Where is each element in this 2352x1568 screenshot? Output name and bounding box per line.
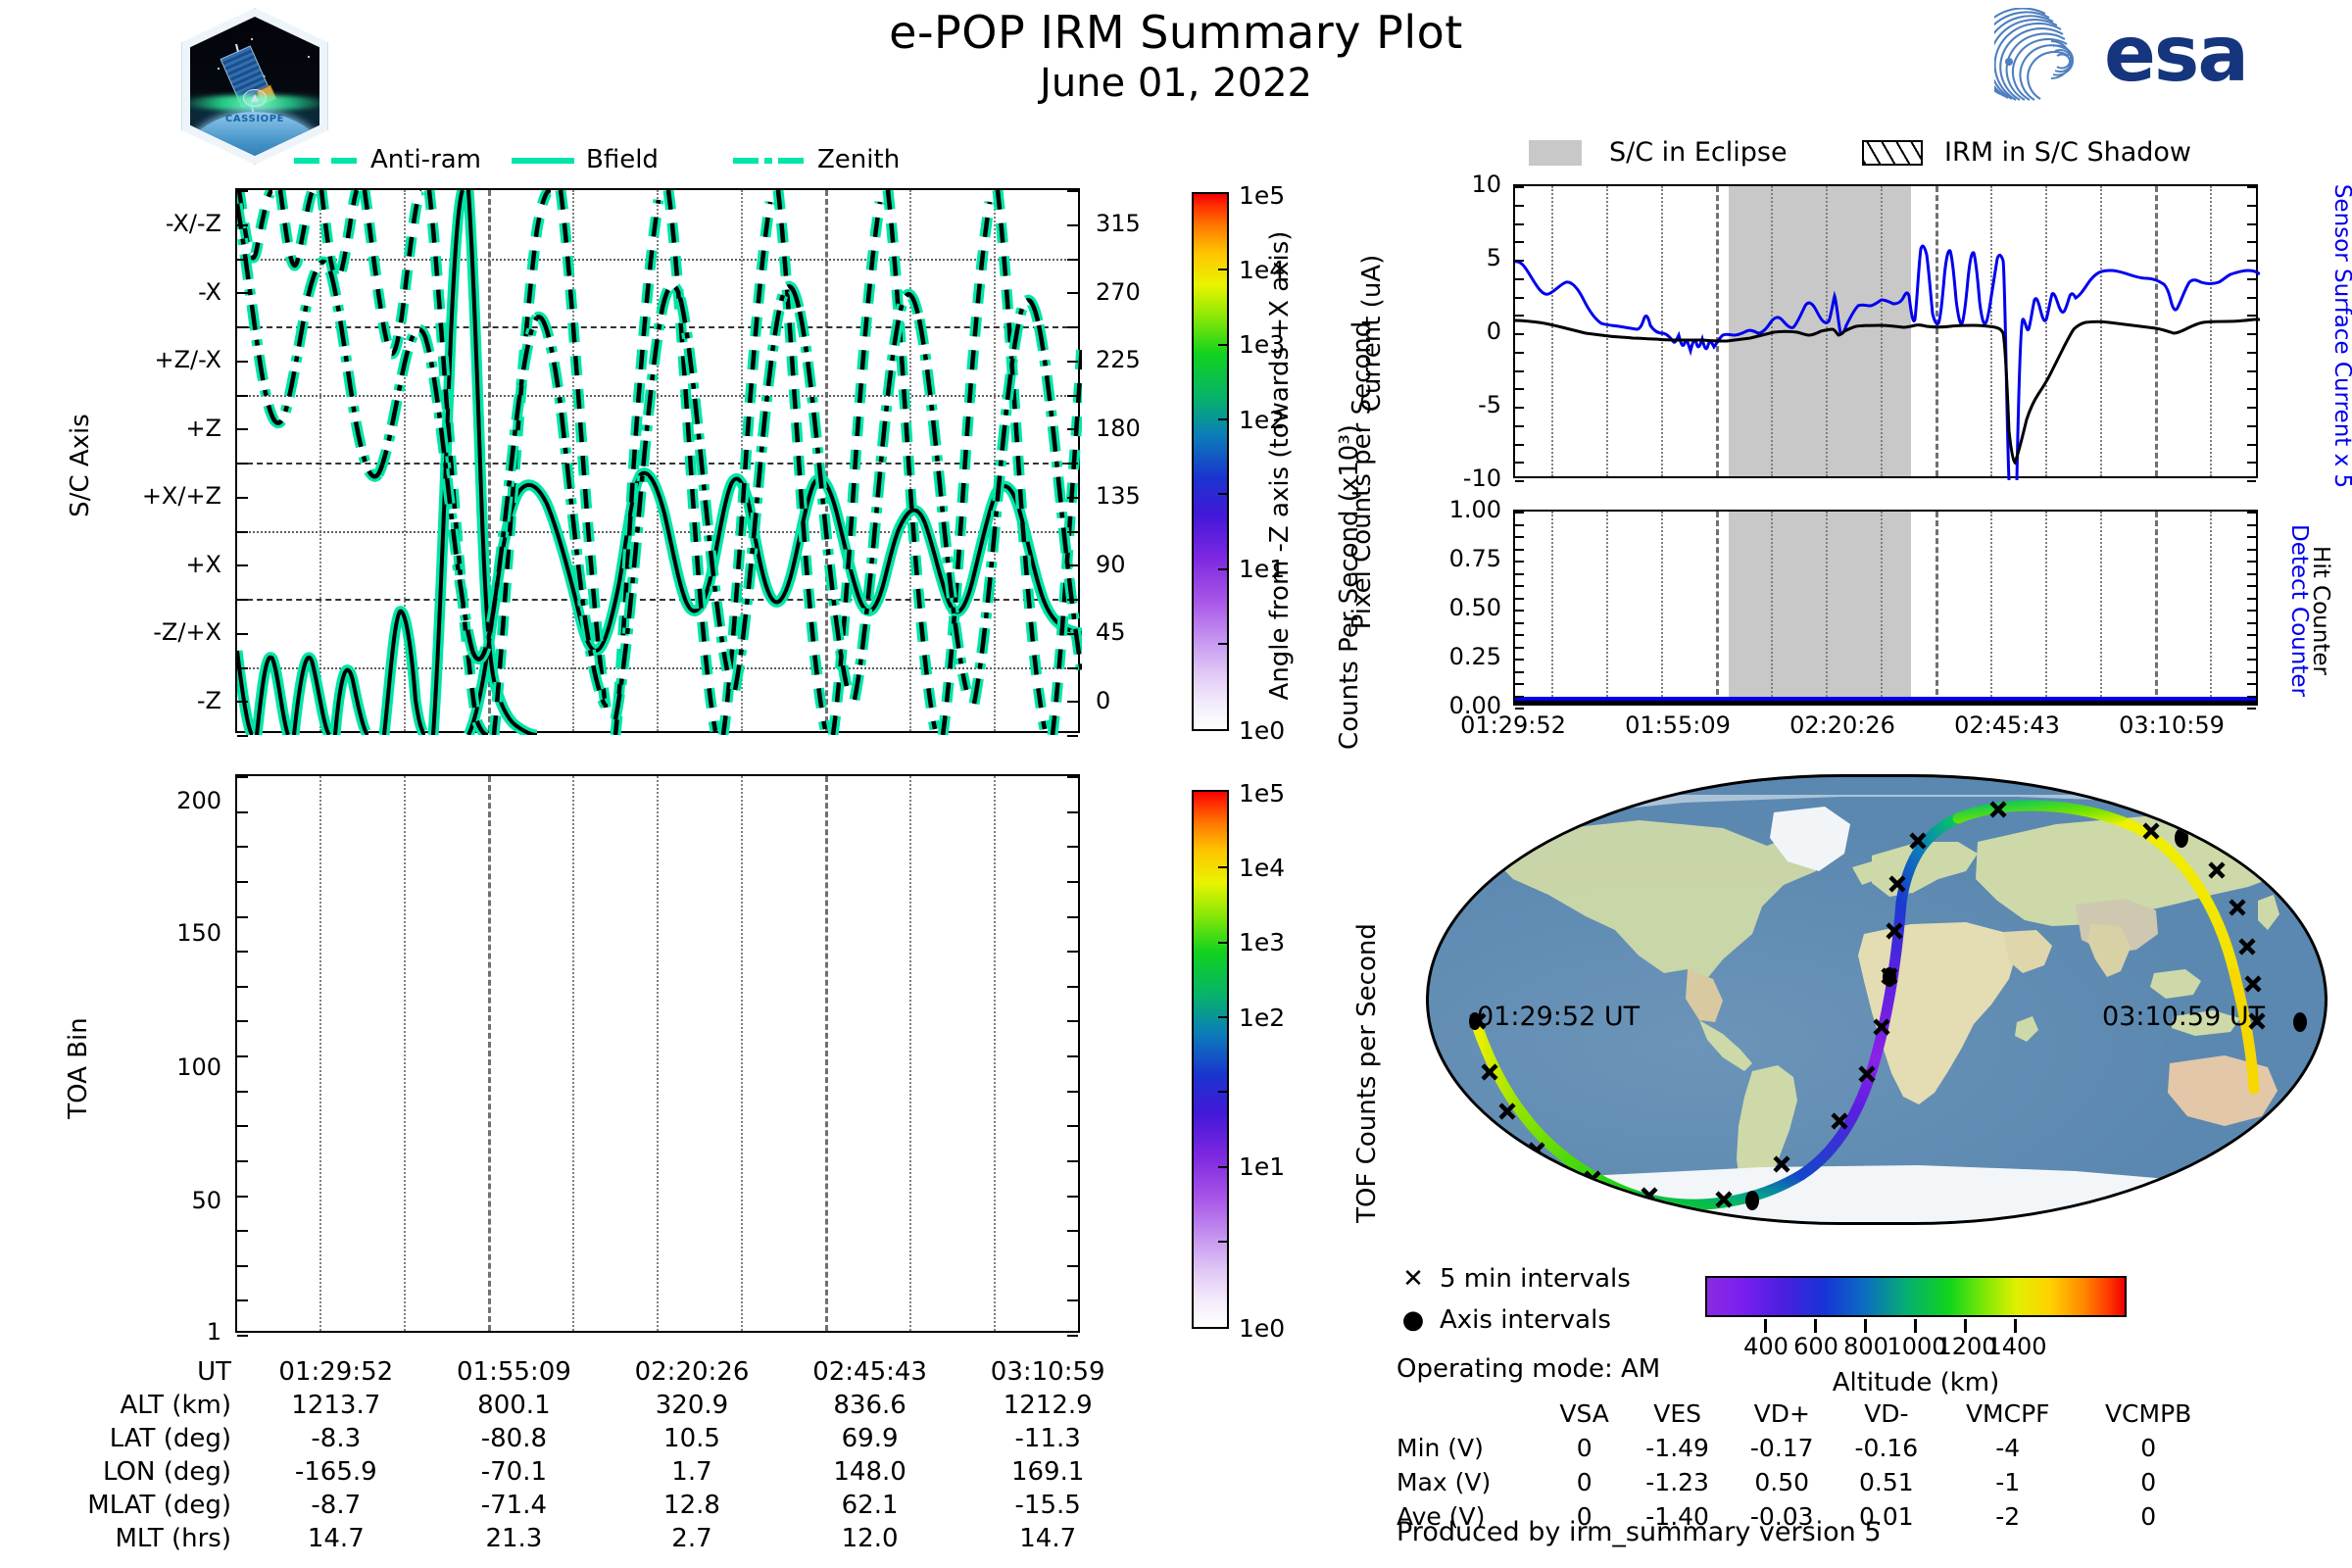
row-label-mlat: MLAT (deg) [59, 1489, 247, 1522]
counts-xtick-0: 01:29:52 [1435, 713, 1592, 737]
attitude-ytick--x--z: -X/-Z [59, 212, 221, 235]
counts-xtick-4: 03:10:59 [2093, 713, 2250, 737]
attitude-right-ytick-45: 45 [1096, 620, 1164, 644]
cell-min-vsa: 0 [1543, 1431, 1625, 1465]
current-ytick-0: 0 [1372, 319, 1501, 343]
cell-mlat-1: -71.4 [425, 1489, 604, 1522]
altitude-tick-1400: 1400 [1974, 1335, 2060, 1358]
cell-max-vcmpb: 0 [2077, 1465, 2220, 1499]
attitude-right-ytick-270: 270 [1096, 280, 1164, 304]
cell-lat-4: -11.3 [958, 1422, 1137, 1455]
toa-ytick-100: 100 [108, 1055, 221, 1079]
toa-ylabel: TOA Bin [64, 980, 93, 1156]
attitude-right-ytick-225: 225 [1096, 348, 1164, 371]
current-ytick-5: 5 [1372, 246, 1501, 269]
cell-lon-0: -165.9 [247, 1455, 425, 1489]
current-ytick-10: 10 [1372, 172, 1501, 196]
counts-trace-hit [1515, 701, 2256, 704]
attitude-ytick-px: +X [59, 553, 221, 576]
tof-cbar-tick-1e4: 1e4 [1239, 856, 1285, 880]
counts-ytick-0.50: 0.50 [1352, 596, 1501, 619]
attitude-right-ytick-180: 180 [1096, 416, 1164, 440]
attitude-right-ytick-90: 90 [1096, 553, 1164, 576]
cell-mlt-2: 2.7 [603, 1522, 781, 1555]
attitude-traces [237, 190, 1082, 735]
cell-alt-0: 1213.7 [247, 1389, 425, 1422]
ephemeris-table: UT 01:29:52 01:55:09 02:20:26 02:45:43 0… [59, 1355, 1137, 1555]
tof-cbar-tick-1e3: 1e3 [1239, 930, 1285, 955]
produced-by-footer: Produced by irm_summary version 5 [1396, 1517, 1882, 1547]
esa-wordmark: esa [2104, 10, 2247, 100]
ground-track-map: 01:29:52 UT 03:10:59 UT [1426, 774, 2352, 1235]
map-globe-shape [1426, 774, 2327, 1225]
cell-max-vdminus: 0.51 [1835, 1465, 1939, 1499]
current-ytick--10: -10 [1372, 466, 1501, 490]
cell-ave-vmcpf: -2 [1938, 1499, 2077, 1534]
cell-alt-4: 1212.9 [958, 1389, 1137, 1422]
cell-alt-1: 800.1 [425, 1389, 604, 1422]
table-row-mlat: MLAT (deg) -8.7 -71.4 12.8 62.1 -15.5 [59, 1489, 1137, 1522]
cell-lat-0: -8.3 [247, 1422, 425, 1455]
eclipse-shade-counts [1729, 512, 1911, 704]
pixel-counts-colorbar [1192, 192, 1229, 731]
counts-right-label-black: Hit Counter [2308, 464, 2333, 758]
cell-lon-2: 1.7 [603, 1455, 781, 1489]
altitude-colorbar-label: Altitude (km) [1705, 1368, 2127, 1397]
cell-max-vmcpf: -1 [1938, 1465, 2077, 1499]
legend-label-axis-intervals: Axis intervals [1440, 1305, 1611, 1335]
cell-lon-3: 148.0 [781, 1455, 959, 1489]
legend-label-5min: 5 min intervals [1440, 1264, 1631, 1294]
cell-lat-3: 69.9 [781, 1422, 959, 1455]
cell-mlat-4: -15.5 [958, 1489, 1137, 1522]
table-row-alt: ALT (km) 1213.7 800.1 320.9 836.6 1212.9 [59, 1389, 1137, 1422]
cell-alt-2: 320.9 [603, 1389, 781, 1422]
voltage-col-vmcpf: VMCPF [1938, 1396, 2077, 1431]
cell-lat-2: 10.5 [603, 1422, 781, 1455]
tof-cbar-tick-1e0: 1e0 [1239, 1316, 1285, 1341]
row-label-ut: UT [59, 1355, 247, 1389]
voltage-col-vcmpb: VCMPB [2077, 1396, 2220, 1431]
cell-mlat-3: 62.1 [781, 1489, 959, 1522]
cell-mlt-1: 21.3 [425, 1522, 604, 1555]
counts-ylabel: Counts Per Second (x10³) [1336, 495, 1365, 750]
cell-mlt-3: 12.0 [781, 1522, 959, 1555]
table-row-lon: LON (deg) -165.9 -70.1 1.7 148.0 169.1 [59, 1455, 1137, 1489]
toa-ytick-200: 200 [108, 789, 221, 812]
cassiope-mission-patch-icon: CASSIOPE [181, 8, 328, 165]
cell-lat-1: -80.8 [425, 1422, 604, 1455]
row-label-mlt: MLT (hrs) [59, 1522, 247, 1555]
esa-logo: esa [1994, 8, 2337, 102]
page-subtitle-date: June 01, 2022 [745, 61, 1607, 106]
attitude-ytick--z: -Z [59, 689, 221, 712]
legend-line-anti-ram [294, 158, 319, 164]
legend-line-bfield [512, 158, 574, 164]
legend-line-zenith-dot [764, 158, 772, 164]
pixel-cbar-tick-1e2: 1e2 [1239, 408, 1285, 432]
eclipse-shadow-legend: S/C in Eclipse IRM in S/C Shadow [1529, 137, 2274, 171]
current-traces [1515, 186, 2260, 480]
shadow-legend-label: IRM in S/C Shadow [1944, 137, 2191, 168]
operating-mode-label: Operating mode: AM [1396, 1354, 1660, 1384]
cell-min-vdplus: -0.17 [1730, 1431, 1835, 1465]
patch-wordmark: CASSIOPE [181, 114, 328, 124]
cell-lon-4: 169.1 [958, 1455, 1137, 1489]
cell-min-vmcpf: -4 [1938, 1431, 2077, 1465]
voltage-row-label-max: Max (V) [1396, 1465, 1543, 1499]
current-ytick--5: -5 [1372, 393, 1501, 416]
pixel-cbar-tick-1e1: 1e1 [1239, 557, 1285, 581]
current-plot-area [1513, 184, 2258, 478]
counts-ytick-0.25: 0.25 [1352, 645, 1501, 668]
cell-max-vdplus: 0.50 [1730, 1465, 1835, 1499]
counts-plot-area [1513, 510, 2258, 706]
counts-xtick-2: 02:20:26 [1764, 713, 1921, 737]
counts-xtick-1: 01:55:09 [1599, 713, 1756, 737]
voltage-header-row: VSA VES VD+ VD- VMCPF VCMPB [1396, 1396, 2220, 1431]
cell-ave-vcmpb: 0 [2077, 1499, 2220, 1534]
cell-ut-0: 01:29:52 [247, 1355, 425, 1389]
cell-mlat-2: 12.8 [603, 1489, 781, 1522]
counts-ylabel-text: Counts Per Second (x10³) [1335, 424, 1364, 750]
pixel-cbar-tick-1e0: 1e0 [1239, 718, 1285, 743]
eclipse-legend-label: S/C in Eclipse [1609, 137, 1788, 168]
toa-bin-plot-frame [235, 774, 1080, 1333]
cell-ut-1: 01:55:09 [425, 1355, 604, 1389]
table-row-lat: LAT (deg) -8.3 -80.8 10.5 69.9 -11.3 [59, 1422, 1137, 1455]
table-row-ut: UT 01:29:52 01:55:09 02:20:26 02:45:43 0… [59, 1355, 1137, 1389]
legend-label-zenith: Zenith [817, 145, 900, 174]
cell-lon-1: -70.1 [425, 1455, 604, 1489]
toa-ytick-50: 50 [108, 1189, 221, 1212]
voltage-row-label-min: Min (V) [1396, 1431, 1543, 1465]
voltage-row-min: Min (V) 0 -1.49 -0.17 -0.16 -4 0 [1396, 1431, 2220, 1465]
counts-xtick-3: 02:45:43 [1929, 713, 2085, 737]
attitude-plot-frame [235, 188, 1080, 733]
attitude-right-ytick-135: 135 [1096, 484, 1164, 508]
cell-min-ves: -1.49 [1625, 1431, 1730, 1465]
voltage-row-max: Max (V) 0 -1.23 0.50 0.51 -1 0 [1396, 1465, 2220, 1499]
attitude-ytick-pz-mx: +Z/-X [59, 348, 221, 371]
cell-ut-4: 03:10:59 [958, 1355, 1137, 1389]
legend-label-bfield: Bfield [586, 145, 659, 174]
shadow-hatch-swatch [1862, 140, 1923, 166]
attitude-ylabel: S/C Axis [66, 377, 95, 554]
cell-alt-3: 836.6 [781, 1389, 959, 1422]
cell-ut-2: 02:20:26 [603, 1355, 781, 1389]
altitude-colorbar [1705, 1276, 2127, 1317]
voltage-corner-cell [1396, 1396, 1543, 1431]
tof-cbar-tick-1e1: 1e1 [1239, 1154, 1285, 1179]
counts-ytick-1.00: 1.00 [1352, 498, 1501, 521]
voltage-col-vsa: VSA [1543, 1396, 1625, 1431]
cell-ut-3: 02:45:43 [781, 1355, 959, 1389]
current-ylabel: Current (uA) [1357, 211, 1387, 456]
table-row-mlt: MLT (hrs) 14.7 21.3 2.7 12.0 14.7 [59, 1522, 1137, 1555]
cell-min-vdminus: -0.16 [1835, 1431, 1939, 1465]
cell-min-vcmpb: 0 [2077, 1431, 2220, 1465]
cell-mlat-0: -8.7 [247, 1489, 425, 1522]
row-label-alt: ALT (km) [59, 1389, 247, 1422]
eclipse-swatch [1529, 140, 1582, 166]
map-end-time-label: 03:10:59 UT [2102, 1002, 2265, 1032]
voltage-col-vdminus: VD- [1835, 1396, 1939, 1431]
pixel-cbar-tick-1e5: 1e5 [1239, 183, 1285, 208]
pixel-cbar-tick-1e3: 1e3 [1239, 332, 1285, 357]
legend-line-anti-ram-2 [331, 158, 357, 164]
legend-line-zenith-2 [778, 158, 804, 164]
pixel-cbar-tick-1e4: 1e4 [1239, 258, 1285, 282]
tof-cbar-tick-1e5: 1e5 [1239, 781, 1285, 806]
toa-ytick-1: 1 [108, 1320, 221, 1344]
toa-ytick-150: 150 [108, 921, 221, 945]
cross-marker-icon: ✕ [1396, 1264, 1430, 1294]
attitude-ytick--x: -X [59, 280, 221, 304]
legend-line-zenith-1 [733, 158, 759, 164]
tof-counts-colorbar [1192, 790, 1229, 1329]
tof-colorbar-label: TOF Counts per Second [1352, 862, 1382, 1284]
cell-max-ves: -1.23 [1625, 1465, 1730, 1499]
attitude-legend: Anti-ram Bfield Zenith [294, 145, 1000, 178]
cell-mlt-0: 14.7 [247, 1522, 425, 1555]
counts-ytick-0.75: 0.75 [1352, 547, 1501, 570]
row-label-lon: LON (deg) [59, 1455, 247, 1489]
cell-max-vsa: 0 [1543, 1465, 1625, 1499]
legend-label-anti-ram: Anti-ram [370, 145, 481, 174]
tof-cbar-tick-1e2: 1e2 [1239, 1005, 1285, 1030]
voltage-col-vdplus: VD+ [1730, 1396, 1835, 1431]
attitude-ytick--z-px: -Z/+X [59, 620, 221, 644]
map-start-time-label: 01:29:52 UT [1477, 1002, 1640, 1032]
voltage-summary-table: VSA VES VD+ VD- VMCPF VCMPB Min (V) 0 -1… [1396, 1396, 2220, 1534]
dot-marker-icon: ● [1396, 1305, 1430, 1335]
row-label-lat: LAT (deg) [59, 1422, 247, 1455]
page-title: e-POP IRM Summary Plot [745, 6, 1607, 59]
voltage-col-ves: VES [1625, 1396, 1730, 1431]
esa-swirl-icon [1994, 8, 2104, 102]
attitude-right-ytick-0: 0 [1096, 689, 1164, 712]
attitude-right-ytick-315: 315 [1096, 212, 1164, 235]
cell-mlt-4: 14.7 [958, 1522, 1137, 1555]
